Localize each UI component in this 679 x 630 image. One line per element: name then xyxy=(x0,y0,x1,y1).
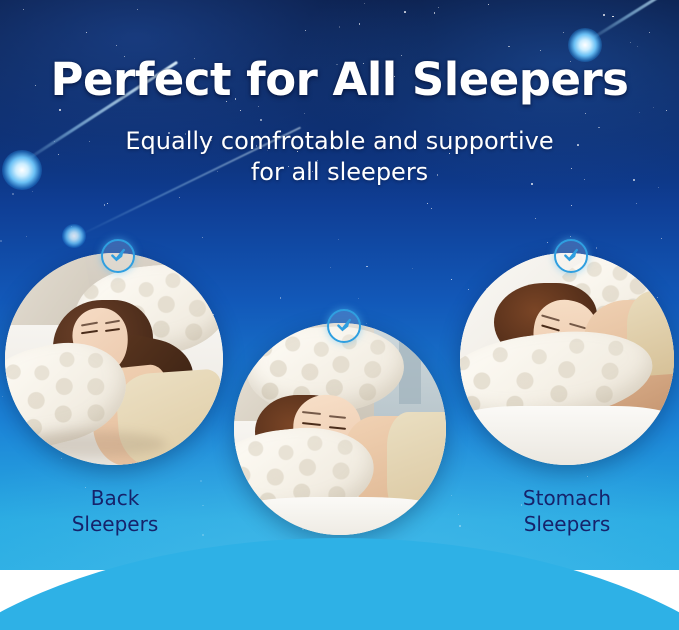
check-badge-stomach xyxy=(554,239,588,273)
sleeper-label-stomach: Stomach Sleepers xyxy=(457,485,677,537)
sleeper-card-back: Back Sleepers xyxy=(5,253,225,553)
photo-side-sleeper xyxy=(234,323,446,535)
photo-back-sleeper xyxy=(5,253,223,465)
sleeper-label-back: Back Sleepers xyxy=(5,485,225,537)
sleeper-types-poster: Perfect for All Sleepers Equally comfrot… xyxy=(0,0,679,630)
check-icon xyxy=(562,247,580,265)
page-subtitle: Equally comfrotable and supportive for a… xyxy=(0,126,679,187)
check-badge-back xyxy=(101,239,135,273)
check-icon xyxy=(109,247,127,265)
check-badge-side xyxy=(327,309,361,343)
page-title: Perfect for All Sleepers xyxy=(0,56,679,103)
photo-stomach-sleeper xyxy=(460,253,674,465)
page-subtitle-line-1: Equally comfrotable and supportive xyxy=(0,126,679,157)
page-subtitle-line-2: for all sleepers xyxy=(0,157,679,188)
check-icon xyxy=(335,317,353,335)
sleeper-card-stomach: Stomach Sleepers xyxy=(460,253,679,553)
